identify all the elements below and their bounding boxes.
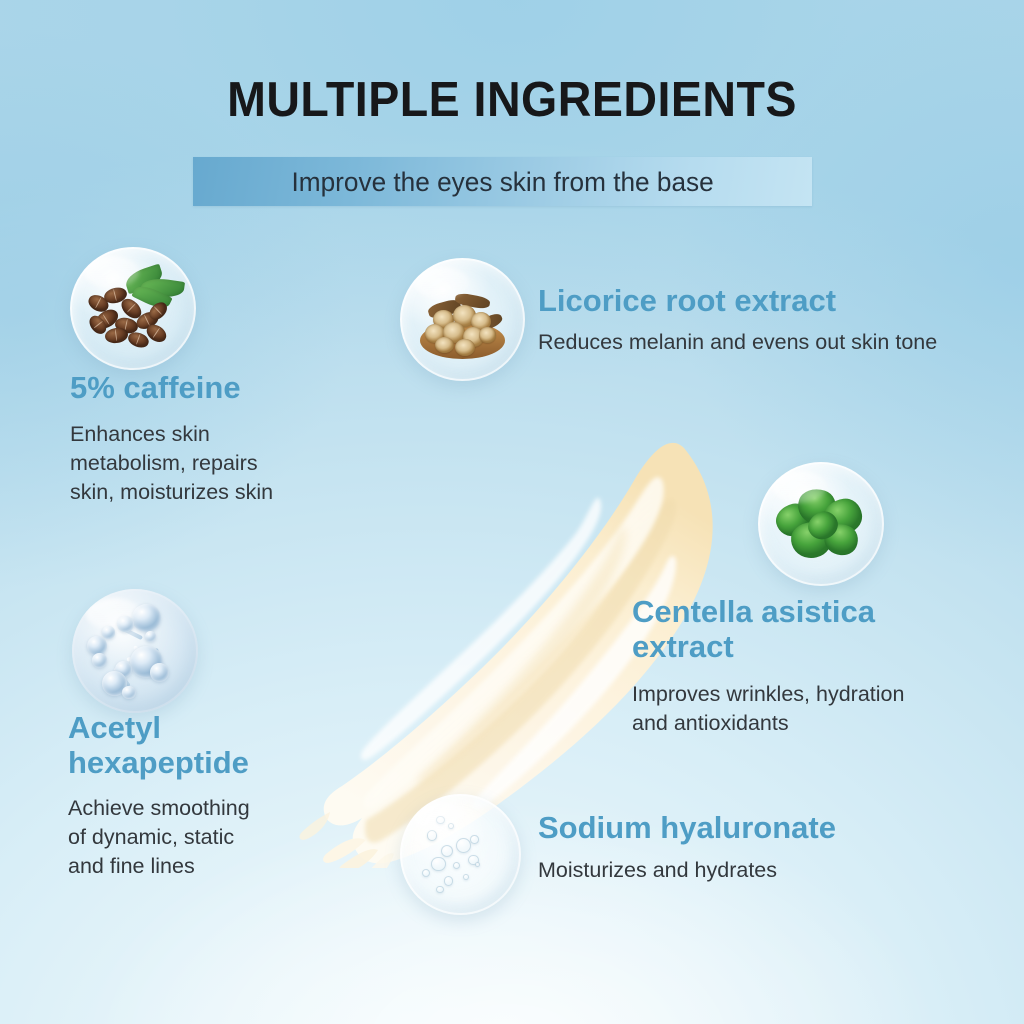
subtitle-banner: Improve the eyes skin from the base (193, 157, 812, 206)
ingredient-caffeine-description: Enhances skin metabolism, repairs skin, … (70, 420, 340, 507)
ingredient-centella: Centella asistica extract Improves wrink… (632, 594, 962, 738)
ingredient-acetyl-title: Acetyl hexapeptide (68, 710, 348, 780)
ingredient-licorice-title: Licorice root extract (538, 283, 1008, 318)
ingredient-centella-description: Improves wrinkles, hydration and antioxi… (632, 680, 962, 738)
coffee-beans-badge-icon (70, 247, 196, 370)
ingredient-licorice-description: Reduces melanin and evens out skin tone (538, 328, 1008, 357)
gel-droplet-badge-icon (400, 794, 521, 915)
ingredient-acetyl-hexapeptide: Acetyl hexapeptide Achieve smoothing of … (68, 710, 348, 881)
ingredient-centella-title: Centella asistica extract (632, 594, 962, 664)
ingredient-caffeine: 5% caffeine Enhances skin metabolism, re… (70, 370, 340, 507)
licorice-root-badge-icon (400, 258, 525, 381)
ingredients-infographic: MULTIPLE INGREDIENTS Improve the eyes sk… (0, 0, 1024, 1024)
ingredient-sodium-description: Moisturizes and hydrates (538, 856, 958, 885)
ingredient-sodium-title: Sodium hyaluronate (538, 810, 958, 845)
ingredient-sodium-hyaluronate: Sodium hyaluronate Moisturizes and hydra… (538, 810, 958, 885)
subtitle-text: Improve the eyes skin from the base (291, 167, 713, 197)
ingredient-caffeine-title: 5% caffeine (70, 370, 340, 405)
ingredient-acetyl-description: Achieve smoothing of dynamic, static and… (68, 794, 348, 881)
centella-leaves-badge-icon (758, 462, 884, 586)
page-title: MULTIPLE INGREDIENTS (26, 72, 999, 128)
molecule-bubbles-badge-icon (72, 589, 198, 713)
ingredient-licorice: Licorice root extract Reduces melanin an… (538, 283, 1008, 357)
